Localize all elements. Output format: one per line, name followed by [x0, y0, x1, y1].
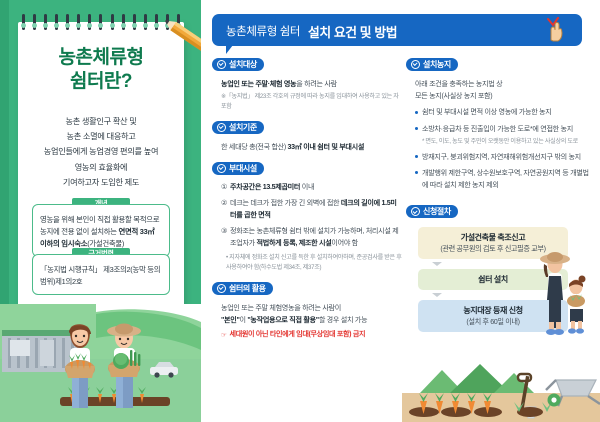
- usage-warning: ☞ 세대원이 아닌 타인에게 임대(무상임대 포함) 금지: [221, 329, 402, 341]
- auxiliary-footnote: • 지자체에 정화조 설치 신고를 득한 후 설치하여야하며, 준공검사를 받은…: [221, 253, 402, 273]
- check-circle-icon: [217, 60, 226, 69]
- install-target-rest: 을 하려는 사람: [296, 80, 337, 88]
- shelter-usage-body: 농업인 또는 주말 체험영농을 하려는 사람이 "본인"이 "농작업용으로 직접…: [212, 302, 402, 341]
- list-item: 개발행위 제한구역, 상수원보호구역, 자연공원지역 등 개별법에 따라 설치 …: [415, 167, 592, 191]
- intro-line: 농촌 소멸에 대응하고: [22, 129, 180, 144]
- item-number: ②: [221, 197, 227, 221]
- badge-label: 쉼터의 활용: [229, 283, 266, 294]
- install-target-strong: 농업인 또는 주말·체험 영농: [221, 80, 296, 88]
- list-item: 소방차·응급차 등 진출입이 가능한 도로*에 연접한 농지* 면도, 이도, …: [415, 123, 592, 147]
- badge-auxiliary-facility: 부대시설: [212, 162, 264, 175]
- badge-label: 설치대상: [229, 59, 257, 70]
- item-text: 정화조는 농촌체류형 쉼터 밖에 설치가 가능하며, 처리시설 제조업자가 적법…: [230, 225, 402, 249]
- header-title-bold: 설치 요건 및 방법: [308, 22, 397, 41]
- list-item: ② 데크는 데크가 접한 가장 긴 외벽에 접한 데크의 길이에 1.5미터를 …: [221, 197, 402, 221]
- spiral-binding-icon: [18, 14, 184, 32]
- check-circle-icon: [411, 207, 420, 216]
- intro-line: 농업인들에게 농업경영 편의를 높여: [22, 144, 180, 159]
- check-circle-icon: [217, 123, 226, 132]
- badge-install-land: 설치농지: [406, 58, 458, 71]
- right-content-area: 농촌체류형 쉼터 설치 요건 및 방법 설치대상 농업인 또는 주말·체험 영농…: [201, 0, 600, 422]
- farmers-with-harvest-illustration: [0, 304, 201, 422]
- infographic-page: 농촌체류형 쉼터란? 농촌 생활인구 확산 및 농촌 소멸에 대응하고 농업인들…: [0, 0, 600, 422]
- list-item: 방재지구, 붕괴위험지역, 자연재해위험개선지구 밖의 농지: [415, 151, 592, 163]
- list-item: ③ 정화조는 농촌체류형 쉼터 밖에 설치가 가능하며, 처리시설 제조업자가 …: [221, 225, 402, 249]
- bullet-text: 쉼터 및 부대시설 면적 이상 영농에 가능한 농지: [422, 106, 551, 118]
- item-text: 데크는 데크가 접한 가장 긴 외벽에 접한 데크의 길이에 1.5미터를 곱한…: [230, 197, 402, 221]
- concept-text-c: (가설건축물): [87, 239, 124, 248]
- section-application-procedure: 신청절차 가설건축물 축조신고 (관련 공무원의 검토 후 신고필증 교부) 쉼…: [406, 203, 592, 332]
- list-item: 쉼터 및 부대시설 면적 이상 영농에 가능한 농지: [415, 106, 592, 118]
- lead-line-2: 모든 농지(사실상 농지 포함): [415, 90, 592, 102]
- badge-install-target: 설치대상: [212, 58, 264, 71]
- notepad-intro: 농촌 생활인구 확산 및 농촌 소멸에 대응하고 농업인들에게 농업경영 편의를…: [22, 114, 180, 190]
- badge-install-standard: 설치기준: [212, 121, 264, 134]
- auxiliary-list: ① 주차공간은 13.5제곱미터 이내 ② 데크는 데크가 접한 가장 긴 외벽…: [212, 181, 402, 273]
- lead-line-1: 아래 조건을 충족하는 농지법 상: [415, 78, 592, 90]
- flow-step-title: 가설건축물 축조신고: [422, 232, 564, 243]
- header-banner: 농촌체류형 쉼터 설치 요건 및 방법: [212, 14, 582, 46]
- badge-application-procedure: 신청절차: [406, 205, 458, 218]
- list-item: ① 주차공간은 13.5제곱미터 이내: [221, 181, 402, 193]
- law-box: 「농지법 시행규칙」 제3조의2(농막 등의 범위)제1의2호: [32, 254, 170, 295]
- flow-arrow-icon: [432, 293, 442, 297]
- notepad-sheet: 농촌체류형 쉼터란? 농촌 생활인구 확산 및 농촌 소멸에 대응하고 농업인들…: [18, 22, 184, 310]
- bullet-text: 개발행위 제한구역, 상수원보호구역, 자연공원지역 등 개별법에 따라 설치 …: [422, 167, 592, 191]
- header-title-normal: 농촌체류형 쉼터: [226, 23, 300, 39]
- flow-arrow-icon: [432, 262, 442, 266]
- section-auxiliary-facility: 부대시설 ① 주차공간은 13.5제곱미터 이내 ② 데크는 데크가 접한 가장…: [212, 160, 402, 273]
- check-circle-icon: [217, 284, 226, 293]
- install-target-body: 농업인 또는 주말·체험 영농을 하려는 사람 ※「농지법」 제23조 각호의 …: [212, 78, 402, 112]
- bullet-dot-icon: [415, 155, 418, 158]
- pointer-icon: ☞: [221, 330, 227, 341]
- intro-line: 기여하고자 도입한 제도: [22, 175, 180, 190]
- left-green-panel: 농촌체류형 쉼터란? 농촌 생활인구 확산 및 농촌 소멸에 대응하고 농업인들…: [0, 0, 201, 422]
- badge-label: 설치기준: [229, 122, 257, 133]
- intro-line: 농촌 생활인구 확산 및: [22, 114, 180, 129]
- install-standard-strong: 33㎡ 이내 쉼터 및 부대시설: [288, 143, 364, 151]
- install-standard-body: 한 세대당 총(전국 합산) 33㎡ 이내 쉼터 및 부대시설: [212, 141, 402, 153]
- header-tail: [226, 45, 233, 54]
- section-shelter-usage: 쉼터의 활용 농업인 또는 주말 체험영농을 하려는 사람이 "본인"이 "농작…: [212, 280, 402, 341]
- check-circle-icon: [217, 164, 226, 173]
- notepad-title: 농촌체류형 쉼터란?: [18, 46, 184, 95]
- install-target-note: ※「농지법」 제23조 각호의 규정에 따라 농지를 임대하여 사용하고 있는 …: [221, 92, 402, 112]
- section-install-land: 설치농지 아래 조건을 충족하는 농지법 상 모든 농지(사실상 농지 포함) …: [406, 56, 592, 191]
- install-standard-pre: 한 세대당 총(전국 합산): [221, 143, 288, 151]
- badge-shelter-usage: 쉼터의 활용: [212, 282, 273, 295]
- application-flow: 가설건축물 축조신고 (관련 공무원의 검토 후 신고필증 교부) 쉼터 설치 …: [406, 227, 592, 332]
- middle-column: 설치대상 농업인 또는 주말·체험 영농을 하려는 사람 ※「농지법」 제23조…: [212, 56, 402, 348]
- hand-check-cursor-icon: [542, 17, 568, 43]
- bullet-dot-icon: [415, 111, 418, 114]
- notepad-title-line1: 농촌체류형: [18, 46, 184, 70]
- item-number: ①: [221, 181, 227, 193]
- section-install-standard: 설치기준 한 세대당 총(전국 합산) 33㎡ 이내 쉼터 및 부대시설: [212, 119, 402, 153]
- install-land-bullets: 쉼터 및 부대시설 면적 이상 영농에 가능한 농지 소방차·응급차 등 진출입…: [406, 106, 592, 191]
- bullet-text: 방재지구, 붕괴위험지역, 자연재해위험개선지구 밖의 농지: [422, 151, 581, 163]
- warning-text: 세대원이 아닌 타인에게 임대(무상임대 포함) 금지: [230, 329, 366, 340]
- usage-line-2: "본인"이 "농작업용으로 직접 활용"할 경우 설치 가능: [221, 314, 402, 326]
- badge-label: 신청절차: [423, 206, 451, 217]
- usage-line-1: 농업인 또는 주말 체험영농을 하려는 사람이: [221, 302, 402, 314]
- section-install-target: 설치대상 농업인 또는 주말·체험 영농을 하려는 사람 ※「농지법」 제23조…: [212, 56, 402, 112]
- carrot-field-shovel-wheelbarrow-illustration: [402, 360, 600, 422]
- item-number: ③: [221, 225, 227, 249]
- mother-and-child-farmers-illustration: [530, 250, 600, 336]
- law-text: 「농지법 시행규칙」 제3조의2(농막 등의 범위)제1의2호: [40, 265, 160, 286]
- notepad-title-line2: 쉼터란?: [18, 70, 184, 94]
- item-text: 주차공간은 13.5제곱미터 이내: [230, 181, 314, 193]
- bullet-dot-icon: [415, 171, 418, 174]
- badge-label: 부대시설: [229, 163, 257, 174]
- intro-line: 영농의 효율화에: [22, 160, 180, 175]
- check-circle-icon: [411, 60, 420, 69]
- badge-label: 설치농지: [423, 59, 451, 70]
- bullet-dot-icon: [415, 127, 418, 130]
- install-land-lead: 아래 조건을 충족하는 농지법 상 모든 농지(사실상 농지 포함): [406, 78, 592, 102]
- bullet-text: 소방차·응급차 등 진출입이 가능한 도로*에 연접한 농지* 면도, 이도, …: [422, 123, 578, 147]
